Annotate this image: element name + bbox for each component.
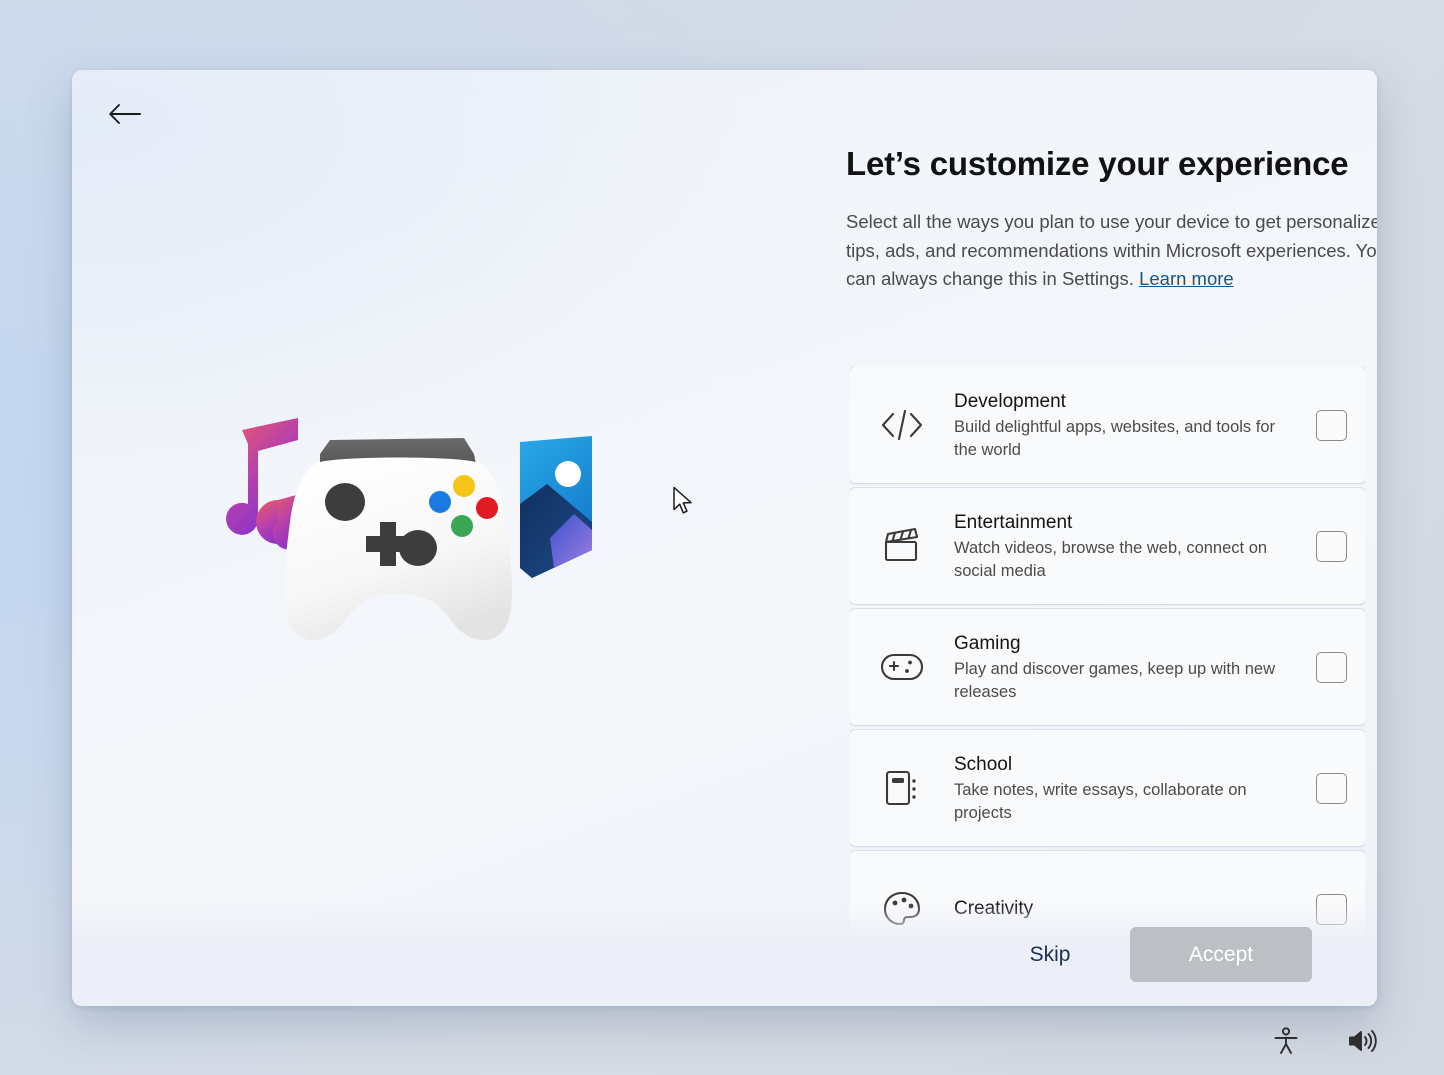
option-checkbox-gaming[interactable] — [1316, 652, 1347, 683]
photo-tile-graphic — [520, 436, 592, 578]
option-title: Gaming — [954, 631, 1300, 657]
volume-button[interactable] — [1342, 1021, 1382, 1061]
option-description: Watch videos, browse the web, connect on… — [954, 537, 1284, 583]
option-description: Play and discover games, keep up with ne… — [954, 658, 1284, 704]
option-text: School Take notes, write essays, collabo… — [954, 752, 1316, 825]
skip-button[interactable]: Skip — [996, 929, 1104, 981]
option-checkbox-school[interactable] — [1316, 773, 1347, 804]
learn-more-link[interactable]: Learn more — [1139, 268, 1234, 289]
option-text: Development Build delightful apps, websi… — [954, 389, 1316, 462]
volume-icon — [1347, 1028, 1377, 1054]
option-checkbox-development[interactable] — [1316, 410, 1347, 441]
setup-dialog: Let’s customize your experience Select a… — [72, 70, 1377, 1006]
option-title: Entertainment — [954, 510, 1300, 536]
page-title: Let’s customize your experience — [846, 145, 1377, 183]
option-text: Gaming Play and discover games, keep up … — [954, 631, 1316, 704]
page-description: Select all the ways you plan to use your… — [846, 208, 1377, 294]
clapperboard-icon — [850, 527, 954, 565]
content-pane: Let’s customize your experience Select a… — [774, 70, 1377, 1006]
option-title: Development — [954, 389, 1300, 415]
option-description: Take notes, write essays, collaborate on… — [954, 779, 1284, 825]
options-list[interactable]: Development Build delightful apps, websi… — [850, 367, 1365, 961]
option-card-gaming[interactable]: Gaming Play and discover games, keep up … — [850, 609, 1365, 725]
music-gaming-photos-illustration — [202, 418, 642, 658]
dialog-footer: Skip Accept — [72, 903, 1377, 1006]
taskbar-tray — [1266, 1021, 1382, 1061]
description-text: Select all the ways you plan to use your… — [846, 211, 1377, 289]
option-card-school[interactable]: School Take notes, write essays, collabo… — [850, 730, 1365, 846]
accessibility-button[interactable] — [1266, 1021, 1306, 1061]
option-description: Build delightful apps, websites, and too… — [954, 416, 1284, 462]
option-checkbox-entertainment[interactable] — [1316, 531, 1347, 562]
code-brackets-icon — [850, 406, 954, 444]
option-title: School — [954, 752, 1300, 778]
accessibility-icon — [1273, 1027, 1299, 1055]
option-card-development[interactable]: Development Build delightful apps, websi… — [850, 367, 1365, 483]
notebook-icon — [850, 768, 954, 808]
option-text: Entertainment Watch videos, browse the w… — [954, 510, 1316, 583]
option-card-entertainment[interactable]: Entertainment Watch videos, browse the w… — [850, 488, 1365, 604]
accept-button[interactable]: Accept — [1130, 927, 1312, 982]
illustration-pane — [72, 70, 772, 1006]
game-controller-graphic — [284, 438, 512, 640]
gamepad-icon — [850, 651, 954, 683]
